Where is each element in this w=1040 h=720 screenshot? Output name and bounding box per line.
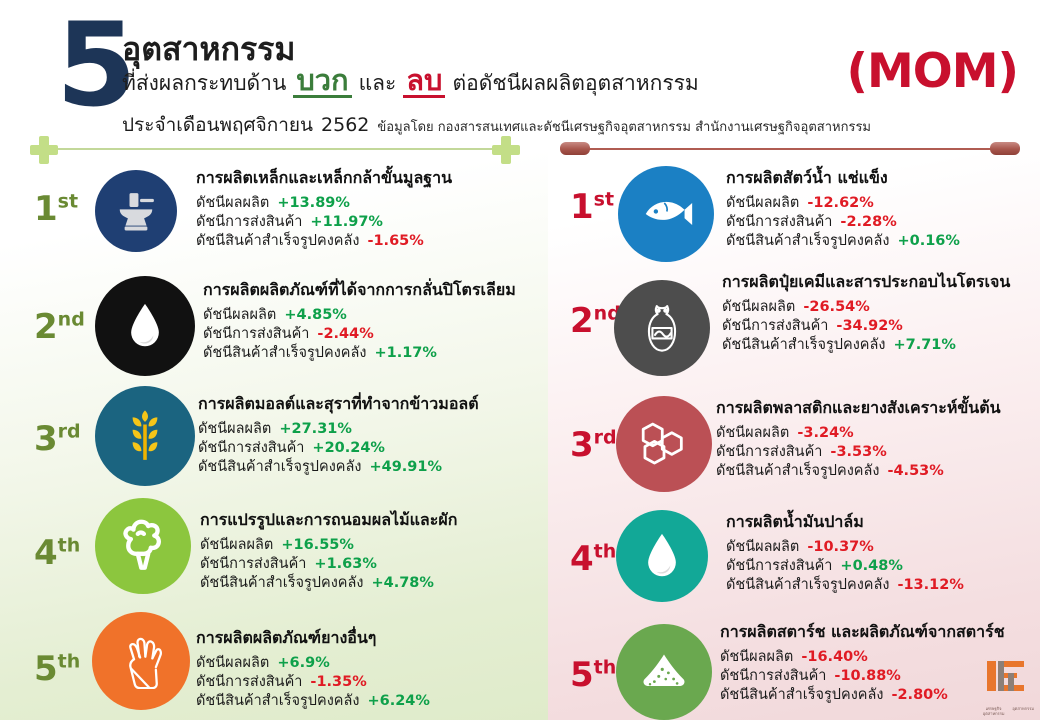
anvil-icon — [110, 185, 162, 237]
industry-row: 3rd การผลิตมอลต์และสุราที่ทำจากข้าวมอลต์… — [0, 380, 548, 490]
metric-value: +20.24% — [312, 440, 385, 456]
fish-icon — [639, 195, 693, 233]
rank-ordinal-suffix: nd — [58, 309, 85, 331]
metric-label: ดัชนีผลผลิต — [726, 539, 799, 555]
metric-value: -1.35% — [310, 674, 366, 690]
industry-detail: การผลิตสตาร์ช และผลิตภัณฑ์จากสตาร์ชดัชนี… — [720, 620, 1005, 705]
industry-detail: การผลิตเหล็กและเหล็กกล้าขั้นมูลฐานดัชนีผ… — [196, 166, 452, 251]
metric-row: ดัชนีการส่งสินค้า+0.48% — [726, 557, 964, 576]
metric-row: ดัชนีผลผลิต+13.89% — [196, 194, 452, 213]
metric-value: +4.85% — [284, 307, 346, 323]
oie-logo: เศรษฐกิจอุตสาหกรรม อุตสาหกรรม — [978, 658, 1034, 716]
industry-name: การผลิตมอลต์และสุราที่ทำจากข้าวมอลต์ — [198, 392, 479, 417]
metric-label: ดัชนีการส่งสินค้า — [203, 326, 309, 342]
industry-detail: การผลิตผลิตภัณฑ์ยางอื่นๆดัชนีผลผลิต+6.9%… — [196, 626, 430, 711]
rank-number: 4 — [34, 533, 58, 573]
metric-value: -2.28% — [840, 214, 896, 230]
industry-name: การผลิตผลิตภัณฑ์ที่ได้จากการกลั่นปิโตรเล… — [203, 278, 516, 303]
metric-row: ดัชนีการส่งสินค้า-1.35% — [196, 673, 430, 692]
metric-label: ดัชนีผลผลิต — [722, 299, 795, 315]
header-impact-and: และ — [359, 67, 397, 100]
metric-row: ดัชนีสินค้าสำเร็จรูปคงคลัง+49.91% — [198, 458, 479, 477]
metric-label: ดัชนีการส่งสินค้า — [716, 444, 822, 460]
header-impact-prefix: ที่ส่งผลกระทบด้าน — [122, 67, 286, 100]
divider-line-red — [578, 148, 1002, 150]
glove-icon — [116, 633, 166, 689]
metric-label: ดัชนีการส่งสินค้า — [196, 214, 302, 230]
rank-2: 2nd — [34, 310, 85, 344]
industry-name: การผลิตผลิตภัณฑ์ยางอื่นๆ — [196, 626, 430, 651]
metric-label: ดัชนีสินค้าสำเร็จรูปคงคลัง — [196, 233, 359, 249]
industry-row: 4thการผลิตน้ำมันปาล์มดัชนีผลผลิต-10.37%ด… — [548, 492, 1040, 602]
industry-detail: การแปรรูปและการถนอมผลไม้และผักดัชนีผลผลิ… — [200, 508, 457, 593]
keyword-negative: ลบ — [403, 66, 445, 98]
broccoli-icon-badge — [95, 498, 191, 594]
industry-row: 3rd การผลิตพลาสติกและยางสังเคราะห์ขั้นต้… — [548, 384, 1040, 494]
oie-logo-mark — [986, 658, 1026, 698]
metric-value: +1.63% — [314, 556, 376, 572]
metric-value: -3.24% — [797, 425, 853, 441]
metric-value: +13.89% — [277, 195, 350, 211]
metric-value: -34.92% — [836, 318, 902, 334]
rank-number: 2 — [34, 307, 58, 347]
metric-row: ดัชนีสินค้าสำเร็จรูปคงคลัง+0.16% — [726, 232, 960, 251]
wheat-icon-badge — [95, 386, 195, 486]
rank-ordinal-suffix: st — [594, 189, 614, 211]
rank-number: 1 — [34, 189, 58, 229]
metric-row: ดัชนีผลผลิต+27.31% — [198, 420, 479, 439]
metric-row: ดัชนีสินค้าสำเร็จรูปคงคลัง+1.17% — [203, 344, 516, 363]
industry-name: การผลิตสตาร์ช และผลิตภัณฑ์จากสตาร์ช — [720, 620, 1005, 645]
logo-caption-left: เศรษฐกิจอุตสาหกรรม — [978, 706, 1009, 716]
metric-value: -26.54% — [803, 299, 869, 315]
metric-label: ดัชนีผลผลิต — [716, 425, 789, 441]
metric-row: ดัชนีการส่งสินค้า+1.63% — [200, 555, 457, 574]
metric-row: ดัชนีผลผลิต-10.37% — [726, 538, 964, 557]
rank-5: 5th — [34, 652, 80, 686]
rank-ordinal-suffix: th — [594, 541, 617, 563]
metric-row: ดัชนีผลผลิต+6.9% — [196, 654, 430, 673]
header: 5 อุตสาหกรรม ที่ส่งผลกระทบด้าน บวก และ ล… — [0, 0, 1040, 150]
metric-row: ดัชนีการส่งสินค้า-34.92% — [722, 317, 1010, 336]
keyword-positive: บวก — [293, 66, 351, 98]
metric-value: +4.78% — [371, 575, 433, 591]
metric-label: ดัชนีสินค้าสำเร็จรูปคงคลัง — [720, 687, 883, 703]
metric-label: ดัชนีการส่งสินค้า — [722, 318, 828, 334]
metric-value: -10.88% — [834, 668, 900, 684]
industry-name: การผลิตปุ๋ยเคมีและสารประกอบไนโตรเจน — [722, 270, 1010, 295]
plus-icon-right — [492, 136, 520, 164]
metric-row: ดัชนีการส่งสินค้า+11.97% — [196, 213, 452, 232]
metric-value: +0.16% — [897, 233, 959, 249]
metric-label: ดัชนีผลผลิต — [726, 195, 799, 211]
metric-value: +16.55% — [281, 537, 354, 553]
metric-row: ดัชนีผลผลิต-26.54% — [722, 298, 1010, 317]
metric-value: +49.91% — [369, 459, 442, 475]
metric-label: ดัชนีการส่งสินค้า — [720, 668, 826, 684]
metric-row: ดัชนีสินค้าสำเร็จรูปคงคลัง+7.71% — [722, 336, 1010, 355]
metric-value: -3.53% — [830, 444, 886, 460]
metric-row: ดัชนีสินค้าสำเร็จรูปคงคลัง-1.65% — [196, 232, 452, 251]
metric-value: -10.37% — [807, 539, 873, 555]
rank-1: 1st — [34, 192, 78, 226]
industry-detail: การผลิตปุ๋ยเคมีและสารประกอบไนโตรเจนดัชนี… — [722, 270, 1010, 355]
rank-number: 4 — [570, 539, 594, 579]
rank-3: 3rd — [34, 422, 81, 456]
header-impact-suffix: ต่อดัชนีผลผลิตอุตสาหกรรม — [452, 67, 698, 100]
industry-row: 4th การแปรรูปและการถนอมผลไม้และผักดัชนีผ… — [0, 490, 548, 600]
rank-ordinal-suffix: rd — [594, 427, 617, 449]
metric-row: ดัชนีการส่งสินค้า-10.88% — [720, 667, 1005, 686]
metric-value: +11.97% — [310, 214, 383, 230]
metric-row: ดัชนีสินค้าสำเร็จรูปคงคลัง-2.80% — [720, 686, 1005, 705]
rank-ordinal-suffix: rd — [58, 421, 81, 443]
metric-label: ดัชนีการส่งสินค้า — [200, 556, 306, 572]
anvil-icon-badge — [95, 170, 177, 252]
fish-icon-badge — [618, 166, 714, 262]
glove-icon-badge — [92, 612, 190, 710]
metric-value: +1.17% — [374, 345, 436, 361]
minus-icon-right — [990, 142, 1020, 155]
rank-ordinal-suffix: st — [58, 191, 78, 213]
metric-label: ดัชนีการส่งสินค้า — [198, 440, 304, 456]
metric-row: ดัชนีการส่งสินค้า-2.44% — [203, 325, 516, 344]
metric-label: ดัชนีการส่งสินค้า — [196, 674, 302, 690]
metric-value: -16.40% — [801, 649, 867, 665]
industry-row: 5th การผลิตสตาร์ช และผลิตภัณฑ์จากสตาร์ชด… — [548, 604, 1040, 714]
industry-detail: การผลิตพลาสติกและยางสังเคราะห์ขั้นต้นดัช… — [716, 396, 1001, 481]
metric-label: ดัชนีสินค้าสำเร็จรูปคงคลัง — [726, 577, 889, 593]
metric-label: ดัชนีการส่งสินค้า — [726, 558, 832, 574]
metric-row: ดัชนีสินค้าสำเร็จรูปคงคลัง-4.53% — [716, 462, 1001, 481]
metric-row: ดัชนีสินค้าสำเร็จรูปคงคลัง-13.12% — [726, 576, 964, 595]
infographic-page: 5 อุตสาหกรรม ที่ส่งผลกระทบด้าน บวก และ ล… — [0, 0, 1040, 720]
wheat-icon — [118, 405, 172, 467]
metric-row: ดัชนีการส่งสินค้า+20.24% — [198, 439, 479, 458]
rank-5: 5th — [570, 658, 616, 692]
header-line-impact: ที่ส่งผลกระทบด้าน บวก และ ลบ ต่อดัชนีผลผ… — [122, 66, 699, 100]
industry-detail: การผลิตผลิตภัณฑ์ที่ได้จากการกลั่นปิโตรเล… — [203, 278, 516, 363]
industry-row: 2ndการผลิตผลิตภัณฑ์ที่ได้จากการกลั่นปิโต… — [0, 270, 548, 380]
industry-name: การผลิตเหล็กและเหล็กกล้าขั้นมูลฐาน — [196, 166, 452, 191]
rank-number: 1 — [570, 187, 594, 227]
industry-name: การแปรรูปและการถนอมผลไม้และผัก — [200, 508, 457, 533]
mom-badge: (MOM) — [847, 44, 1018, 99]
metric-row: ดัชนีผลผลิต+4.85% — [203, 306, 516, 325]
polymer-hexagon-icon — [637, 418, 691, 470]
starch-pile-icon-badge — [616, 624, 712, 720]
broccoli-icon — [117, 518, 169, 574]
minus-icon-left — [560, 142, 590, 155]
industry-detail: การผลิตน้ำมันปาล์มดัชนีผลผลิต-10.37%ดัชน… — [726, 510, 964, 595]
metric-row: ดัชนีสินค้าสำเร็จรูปคงคลัง+4.78% — [200, 574, 457, 593]
industry-detail: การผลิตมอลต์และสุราที่ทำจากข้าวมอลต์ดัชน… — [198, 392, 479, 477]
fertilizer-sack-icon — [639, 301, 685, 355]
metric-label: ดัชนีผลผลิต — [720, 649, 793, 665]
metric-value: -2.80% — [891, 687, 947, 703]
metric-value: -2.44% — [317, 326, 373, 342]
industry-row: 1st การผลิตเหล็กและเหล็กกล้าขั้นมูลฐานดั… — [0, 162, 548, 272]
metric-value: +0.48% — [840, 558, 902, 574]
rank-number: 3 — [570, 425, 594, 465]
rank-3: 3rd — [570, 428, 617, 462]
metric-label: ดัชนีผลผลิต — [198, 421, 271, 437]
metric-label: ดัชนีผลผลิต — [203, 307, 276, 323]
metric-label: ดัชนีสินค้าสำเร็จรูปคงคลัง — [726, 233, 889, 249]
metric-label: ดัชนีผลผลิต — [196, 655, 269, 671]
metric-value: +6.9% — [277, 655, 329, 671]
metric-label: ดัชนีสินค้าสำเร็จรูปคงคลัง — [198, 459, 361, 475]
rank-ordinal-suffix: th — [58, 535, 81, 557]
rank-1: 1st — [570, 190, 614, 224]
divider-negative — [560, 132, 1020, 166]
starch-pile-icon — [636, 649, 692, 695]
polymer-hexagon-icon-badge — [616, 396, 712, 492]
fertilizer-sack-icon-badge — [614, 280, 710, 376]
rank-4: 4th — [570, 542, 616, 576]
plus-icon-left — [30, 136, 58, 164]
rank-number: 5 — [570, 655, 594, 695]
metric-row: ดัชนีผลผลิต-3.24% — [716, 424, 1001, 443]
rank-4: 4th — [34, 536, 80, 570]
metric-value: -1.65% — [367, 233, 423, 249]
metric-row: ดัชนีผลผลิต-12.62% — [726, 194, 960, 213]
metric-label: ดัชนีผลผลิต — [200, 537, 273, 553]
metric-row: ดัชนีการส่งสินค้า-3.53% — [716, 443, 1001, 462]
metric-value: +27.31% — [279, 421, 352, 437]
metric-value: -12.62% — [807, 195, 873, 211]
industry-name: การผลิตสัตว์น้ำ แช่แข็ง — [726, 166, 960, 191]
oil-drop-icon-badge — [95, 276, 195, 376]
oil-drop-icon — [125, 302, 165, 350]
rank-ordinal-suffix: th — [594, 657, 617, 679]
metric-value: -4.53% — [887, 463, 943, 479]
oie-logo-caption: เศรษฐกิจอุตสาหกรรม อุตสาหกรรม — [978, 706, 1034, 716]
divider-positive — [30, 132, 520, 166]
industry-row: 1st การผลิตสัตว์น้ำ แช่แข็งดัชนีผลผลิต-1… — [548, 162, 1040, 272]
metric-label: ดัชนีผลผลิต — [196, 195, 269, 211]
metric-label: ดัชนีสินค้าสำเร็จรูปคงคลัง — [716, 463, 879, 479]
industry-name: การผลิตน้ำมันปาล์ม — [726, 510, 964, 535]
logo-caption-right: อุตสาหกรรม — [1012, 706, 1034, 716]
industry-name: การผลิตพลาสติกและยางสังเคราะห์ขั้นต้น — [716, 396, 1001, 421]
metric-value: +6.24% — [367, 693, 429, 709]
metric-row: ดัชนีผลผลิต-16.40% — [720, 648, 1005, 667]
rank-2: 2nd — [570, 304, 621, 338]
palm-oil-drop-icon-badge — [616, 510, 708, 602]
industry-row: 5th การผลิตผลิตภัณฑ์ยางอื่นๆดัชนีผลผลิต+… — [0, 602, 548, 712]
metric-row: ดัชนีการส่งสินค้า-2.28% — [726, 213, 960, 232]
metric-value: +7.71% — [893, 337, 955, 353]
metric-row: ดัชนีสินค้าสำเร็จรูปคงคลัง+6.24% — [196, 692, 430, 711]
metric-label: ดัชนีสินค้าสำเร็จรูปคงคลัง — [196, 693, 359, 709]
rank-number: 5 — [34, 649, 58, 689]
metric-label: ดัชนีสินค้าสำเร็จรูปคงคลัง — [722, 337, 885, 353]
metric-row: ดัชนีผลผลิต+16.55% — [200, 536, 457, 555]
metric-label: ดัชนีสินค้าสำเร็จรูปคงคลัง — [200, 575, 363, 591]
metric-value: -13.12% — [897, 577, 963, 593]
palm-oil-drop-icon — [642, 532, 682, 580]
divider-line-green — [48, 148, 502, 150]
rank-number: 2 — [570, 301, 594, 341]
industry-detail: การผลิตสัตว์น้ำ แช่แข็งดัชนีผลผลิต-12.62… — [726, 166, 960, 251]
rank-number: 3 — [34, 419, 58, 459]
rank-ordinal-suffix: th — [58, 651, 81, 673]
metric-label: ดัชนีสินค้าสำเร็จรูปคงคลัง — [203, 345, 366, 361]
metric-label: ดัชนีการส่งสินค้า — [726, 214, 832, 230]
industry-row: 2nd การผลิตปุ๋ยเคมีและสารประกอบไนโตรเจนด… — [548, 270, 1040, 380]
